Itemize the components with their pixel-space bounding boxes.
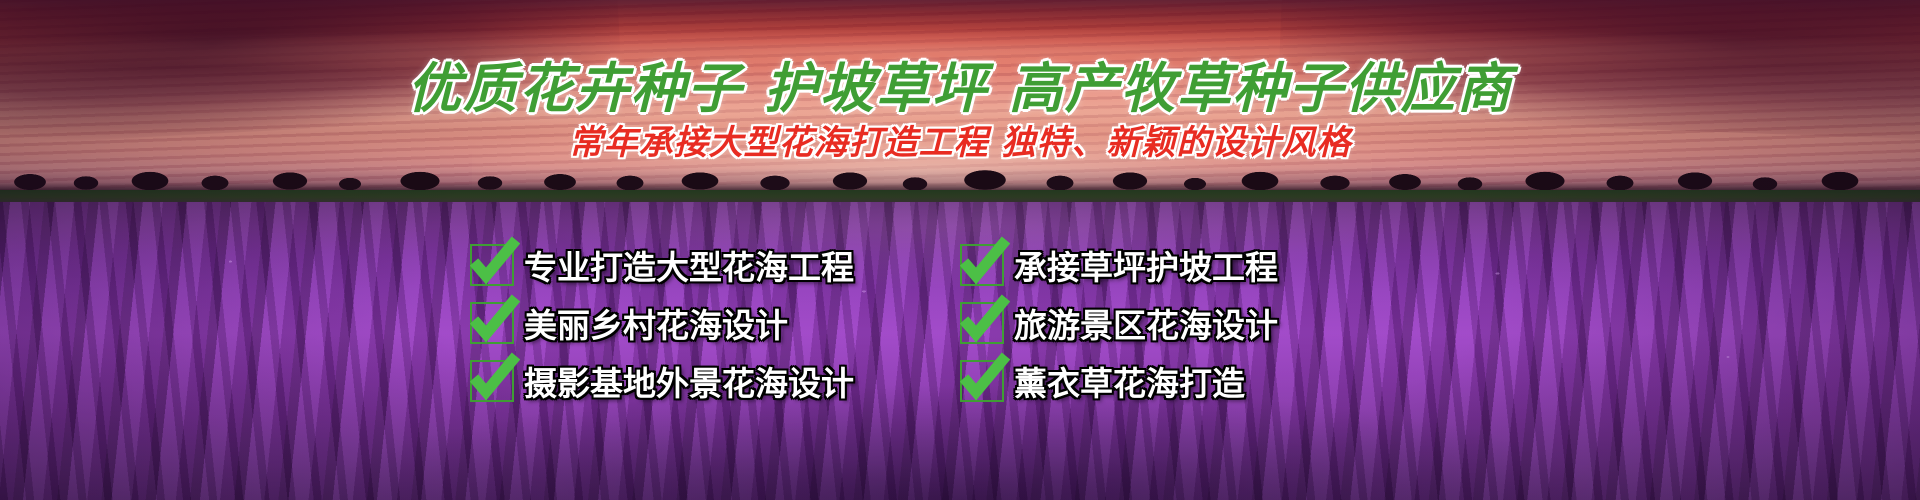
checklist-item-label: 旅游景区花海设计 xyxy=(1014,299,1278,347)
banner-headline: 优质花卉种子 护坡草坪 高产牧草种子供应商 xyxy=(0,44,1920,123)
checkmark-icon xyxy=(960,302,1004,344)
checklist-item: 摄影基地外景花海设计 xyxy=(470,354,940,408)
checklist-item-label: 专业打造大型花海工程 xyxy=(524,241,854,289)
checklist-item: 美丽乡村花海设计 xyxy=(470,296,940,350)
checkmark-icon xyxy=(960,360,1004,402)
checklist-item-label: 摄影基地外景花海设计 xyxy=(524,357,854,405)
checklist-item-label: 美丽乡村花海设计 xyxy=(524,299,788,347)
checklist-item: 专业打造大型花海工程 xyxy=(470,238,940,292)
checklist-item: 承接草坪护坡工程 xyxy=(960,238,1430,292)
checklist-item-label: 承接草坪护坡工程 xyxy=(1014,241,1278,289)
checkmark-icon xyxy=(470,244,514,286)
checkmark-icon xyxy=(470,302,514,344)
checkmark-icon xyxy=(470,360,514,402)
feature-checklist: 专业打造大型花海工程 承接草坪护坡工程 美丽乡村花海设计 xyxy=(470,238,1470,408)
checklist-item-label: 薰衣草花海打造 xyxy=(1014,357,1245,405)
promo-banner: 优质花卉种子 护坡草坪 高产牧草种子供应商 常年承接大型花海打造工程 独特、新颖… xyxy=(0,0,1920,500)
checklist-item: 旅游景区花海设计 xyxy=(960,296,1430,350)
checkmark-icon xyxy=(960,244,1004,286)
banner-subheadline: 常年承接大型花海打造工程 独特、新颖的设计风格 xyxy=(0,115,1920,164)
checklist-item: 薰衣草花海打造 xyxy=(960,354,1430,408)
